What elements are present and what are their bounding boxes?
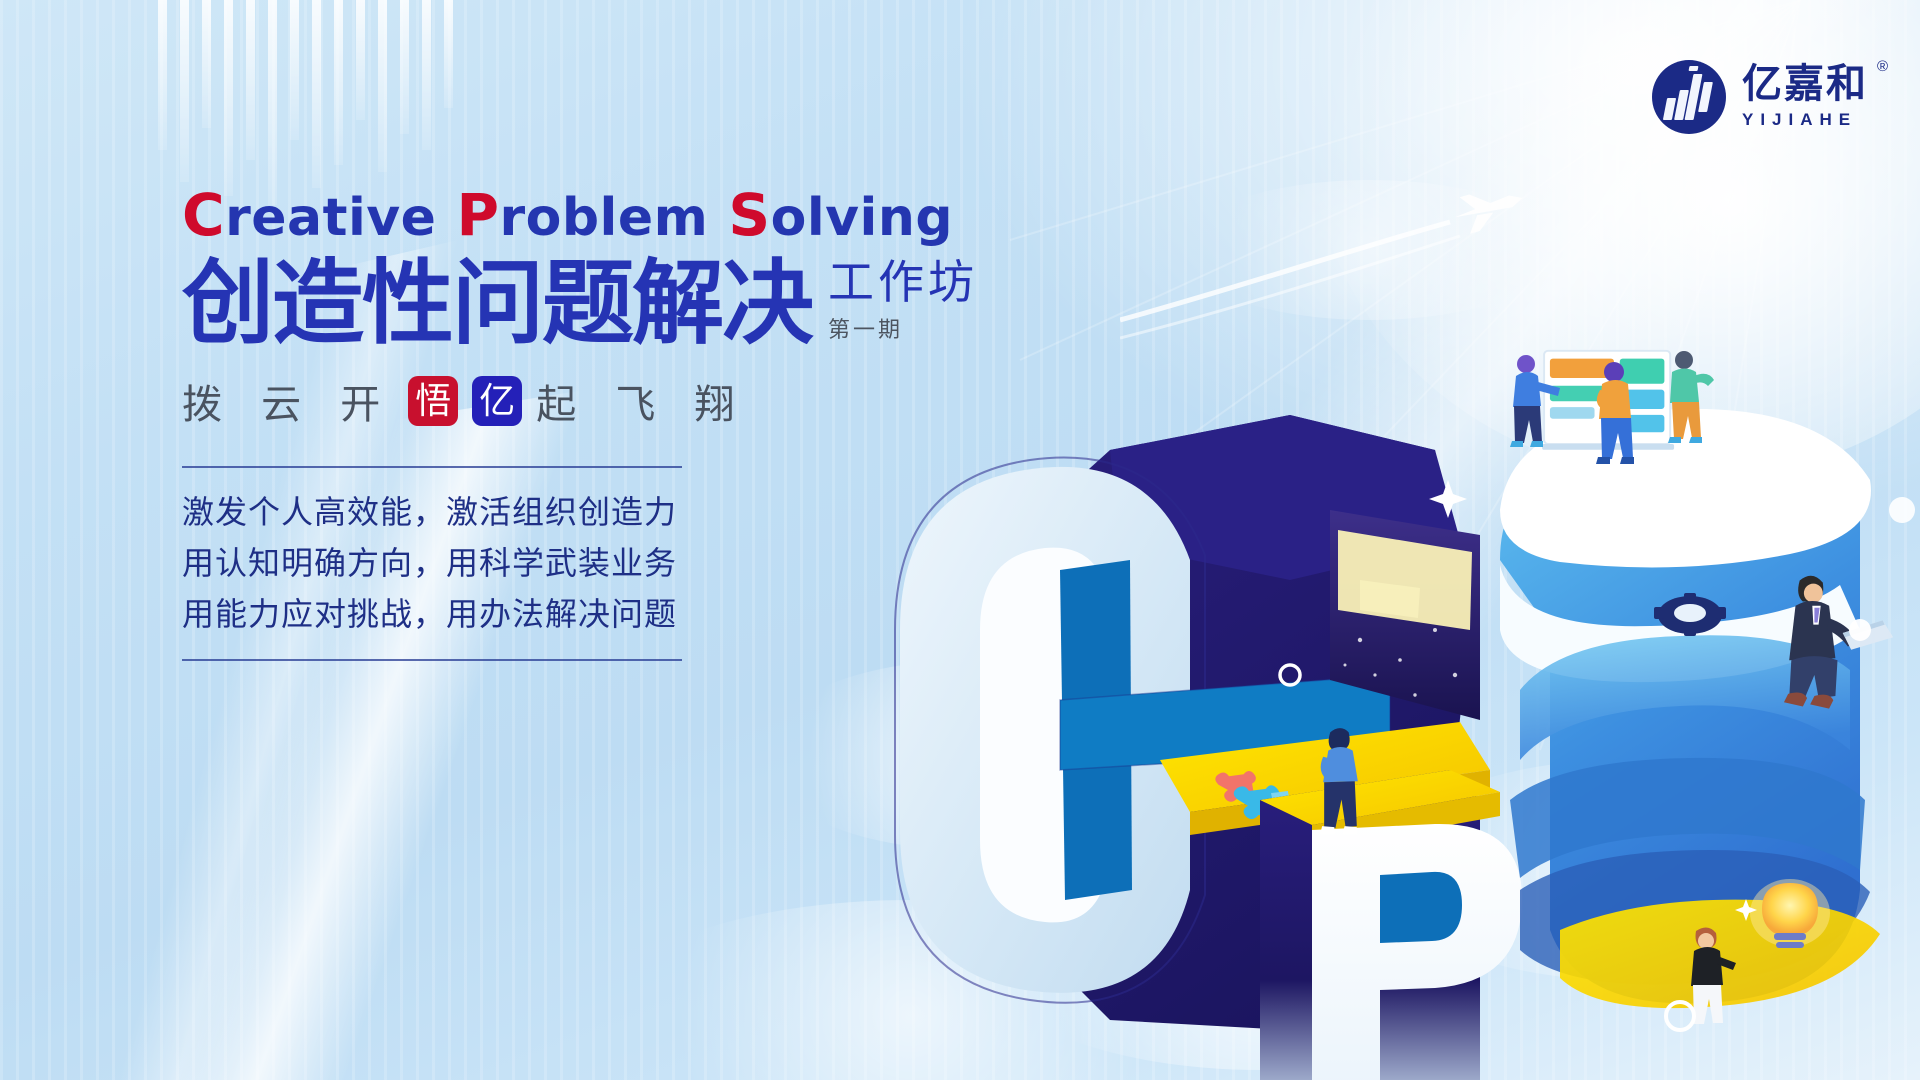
cps-cap-s: S <box>728 181 770 249</box>
description-block: 激发个人高效能，激活组织创造力 用认知明确方向，用科学武装业务 用能力应对挑战，… <box>182 490 1102 636</box>
divider-bottom <box>182 659 682 661</box>
bar-chart-circle-icon <box>1652 60 1726 134</box>
cps-rest-c: reative <box>225 188 436 248</box>
title-side-block: 工作坊 第一期 <box>828 258 978 350</box>
brand-name-block: 亿嘉和 ® YIJIAHE <box>1742 64 1868 130</box>
registered-mark: ® <box>1877 58 1888 75</box>
divider-top <box>182 466 682 468</box>
cps-rest-p: roblem <box>499 188 708 248</box>
description-line-3: 用能力应对挑战，用办法解决问题 <box>182 592 1102 637</box>
tagline-badge-yi: 亿 <box>472 376 522 426</box>
headline-block: CreativeProblemSolving 创造性问题解决 工作坊 第一期 拨… <box>182 186 1102 661</box>
description-line-2: 用认知明确方向，用科学武装业务 <box>182 541 1102 586</box>
workshop-label: 工作坊 <box>828 258 978 306</box>
airplane-icon <box>1120 170 1540 350</box>
english-headline: CreativeProblemSolving <box>182 186 1102 244</box>
description-line-1: 激发个人高效能，激活组织创造力 <box>182 490 1102 535</box>
letter-s-block <box>1500 351 1915 1030</box>
cps-cap-p: P <box>456 181 499 249</box>
tagline: 拨 云 开 悟 亿 起 飞 翔 <box>182 372 1102 430</box>
dot-decoration <box>1849 619 1871 641</box>
dot-decoration <box>1889 497 1915 523</box>
tagline-part-2: 起 飞 翔 <box>536 372 748 430</box>
poster-canvas: CreativeProblemSolving 创造性问题解决 工作坊 第一期 拨… <box>0 0 1920 1080</box>
chinese-title-row: 创造性问题解决 工作坊 第一期 <box>182 258 1102 350</box>
brand-logo: 亿嘉和 ® YIJIAHE <box>1652 60 1868 134</box>
edition-label: 第一期 <box>828 312 978 344</box>
tagline-badge-wu: 悟 <box>408 376 458 426</box>
cps-rest-s: olving <box>771 188 954 248</box>
vertical-bars-decoration <box>158 0 488 210</box>
tagline-part-1: 拨 云 开 <box>182 372 394 430</box>
brand-name-cn: 亿嘉和 <box>1742 64 1868 104</box>
cps-cap-c: C <box>182 181 225 249</box>
page-title: 创造性问题解决 <box>182 258 812 350</box>
brand-name-en: YIJIAHE <box>1742 110 1868 130</box>
